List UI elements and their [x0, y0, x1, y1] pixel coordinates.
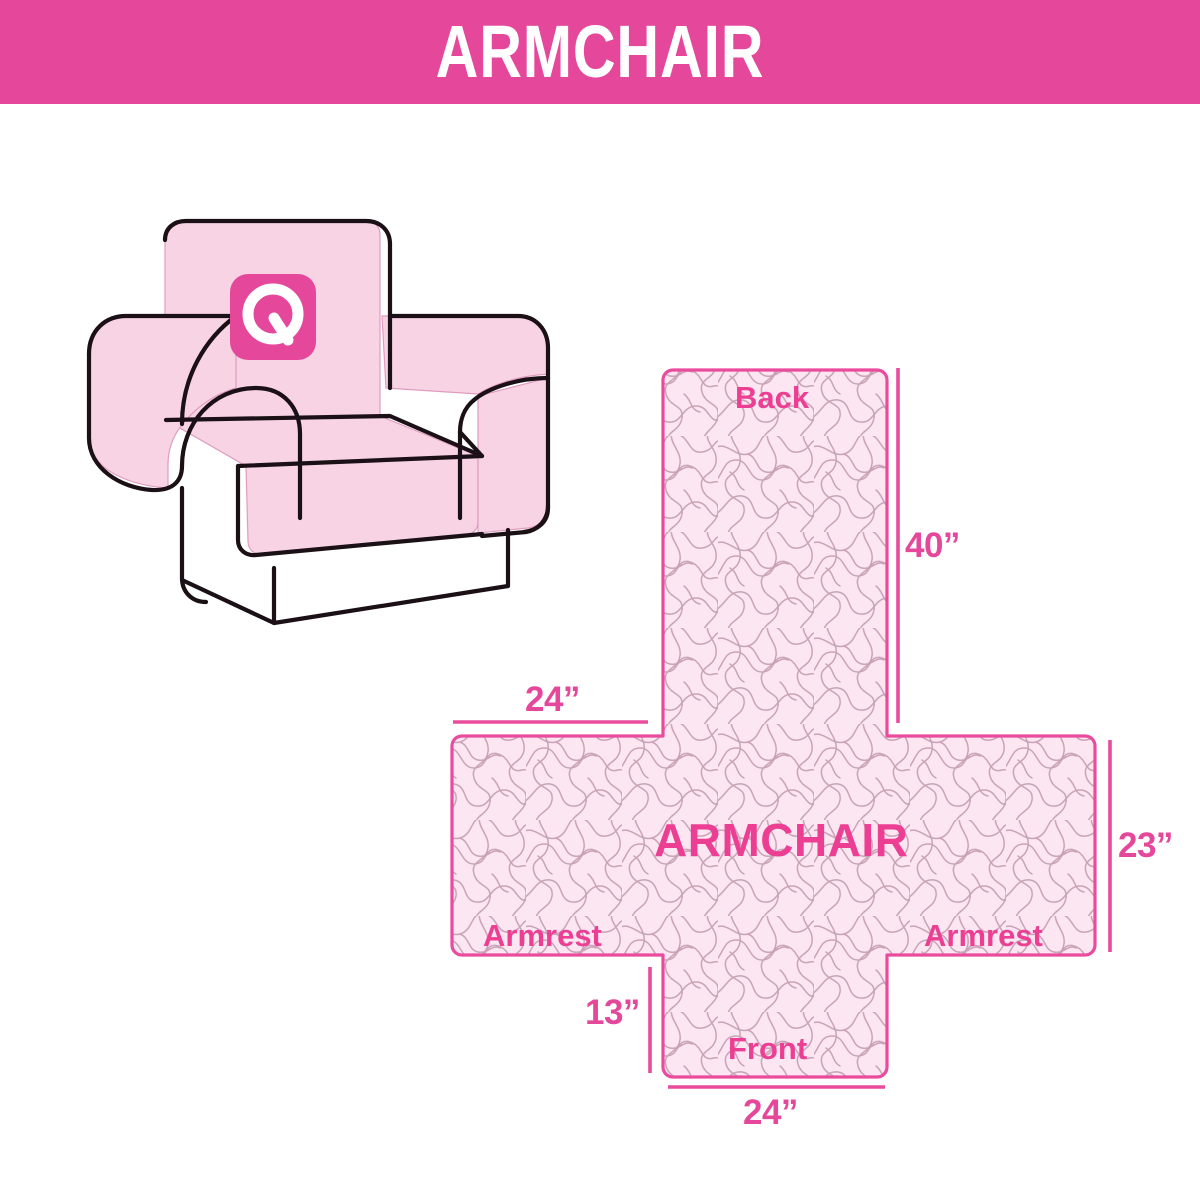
- panel-label-back: Back: [735, 382, 809, 413]
- dim-label-front-height: 13”: [585, 995, 640, 1030]
- dim-label-front-width: 24”: [743, 1095, 798, 1130]
- dim-label-back-height: 40”: [905, 528, 960, 563]
- panel-label-front: Front: [728, 1033, 807, 1064]
- page-title: ARMCHAIR: [120, 0, 1080, 104]
- size-chart-page: ARMCHAIR: [0, 0, 1200, 1200]
- header-banner: ARMCHAIR: [0, 0, 1200, 104]
- q-logo-badge: [230, 274, 316, 360]
- cover-layout-diagram: 40” 24” 23” 13” 24” Back Armrest Armrest…: [430, 340, 1190, 1130]
- panel-label-armrest-left: Armrest: [483, 920, 602, 951]
- panel-label-armrest-right: Armrest: [924, 920, 1043, 951]
- dim-label-seat-depth: 23”: [1118, 828, 1173, 863]
- diagram-center-label: ARMCHAIR: [654, 817, 908, 863]
- dim-label-armrest-width: 24”: [525, 682, 580, 717]
